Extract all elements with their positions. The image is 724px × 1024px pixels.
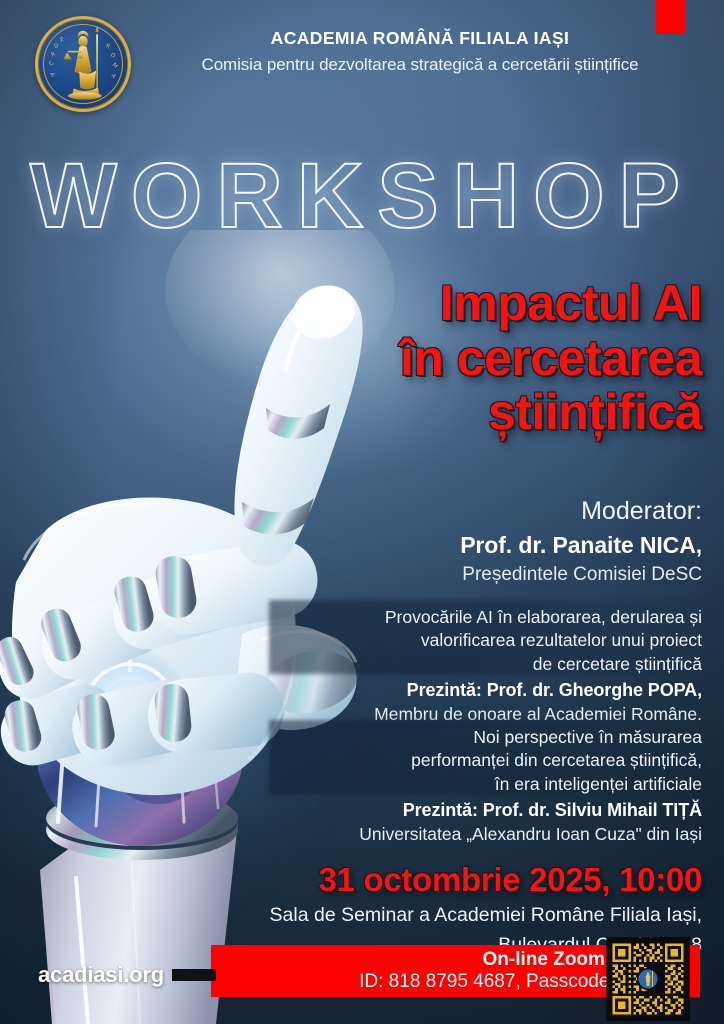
talk-affiliation: Universitatea „Alexandru Ioan Cuza" din …	[277, 823, 702, 846]
svg-text:A: A	[50, 72, 57, 79]
svg-text:O: O	[109, 52, 117, 60]
institution-name: ACADEMIA ROMÂNĂ FILIALA IAȘI	[140, 28, 700, 50]
talk-title-line: de cercetare științifică	[277, 653, 702, 676]
moderator-name: Prof. dr. Panaite NICA,	[242, 530, 702, 560]
svg-text:A: A	[50, 51, 57, 58]
moderator-block: Moderator: Prof. dr. Panaite NICA, Preșe…	[242, 496, 702, 587]
talk-title-line: Noi perspective în măsurarea	[277, 726, 702, 749]
event-title-line-1: Impactul AI	[222, 276, 702, 331]
svg-text:A: A	[109, 73, 116, 80]
talk-presenter: Prezintă: Prof. dr. Silviu Mihail TIȚĂ	[277, 799, 702, 823]
talk-item-2: Noi perspective în măsurarea performanțe…	[277, 726, 702, 846]
poster-header: A C A D E R O M A	[0, 0, 724, 104]
talk-title-line: valorificarea rezultatelor unui proiect	[277, 629, 702, 652]
event-title-line-3: științifică	[222, 385, 702, 440]
commission-name: Comisia pentru dezvoltarea strategică a …	[140, 54, 700, 77]
academia-romana-seal-icon: A C A D E R O M A	[35, 16, 131, 112]
svg-text:M: M	[111, 62, 119, 70]
talk-title-line: Provocările AI în elaborarea, derularea …	[277, 606, 702, 629]
svg-text:C: C	[48, 60, 55, 67]
website-link[interactable]: acadiasi.org	[38, 962, 164, 988]
moderator-label: Moderator:	[242, 496, 702, 527]
talk-title-line: performanței din cercetarea științifică,	[277, 749, 702, 772]
qr-code-icon[interactable]	[607, 938, 689, 1020]
poster: A C A D E R O M A	[0, 0, 724, 1024]
footer-divider	[172, 969, 216, 981]
talk-item-1: Provocările AI în elaborarea, derularea …	[277, 606, 702, 726]
event-title-line-2: în cercetarea	[222, 331, 702, 386]
svg-text:E: E	[60, 37, 65, 43]
moderator-role: Președintele Comisiei DeSC	[242, 563, 702, 588]
svg-text:D: D	[54, 43, 60, 50]
talk-title-line: în era inteligenței artificiale	[277, 773, 702, 796]
svg-text:R: R	[105, 43, 111, 50]
event-title: Impactul AI în cercetarea științifică	[222, 276, 702, 440]
talk-presenter: Prezintă: Prof. dr. Gheorghe POPA,	[277, 679, 702, 703]
venue-line-1: Sala de Seminar a Academiei Române Filia…	[202, 903, 702, 929]
event-datetime: 31 octombrie 2025, 10:00	[202, 862, 702, 899]
header-text-block: ACADEMIA ROMÂNĂ FILIALA IAȘI Comisia pen…	[140, 28, 700, 77]
event-kicker: WORKSHOP	[0, 150, 724, 242]
